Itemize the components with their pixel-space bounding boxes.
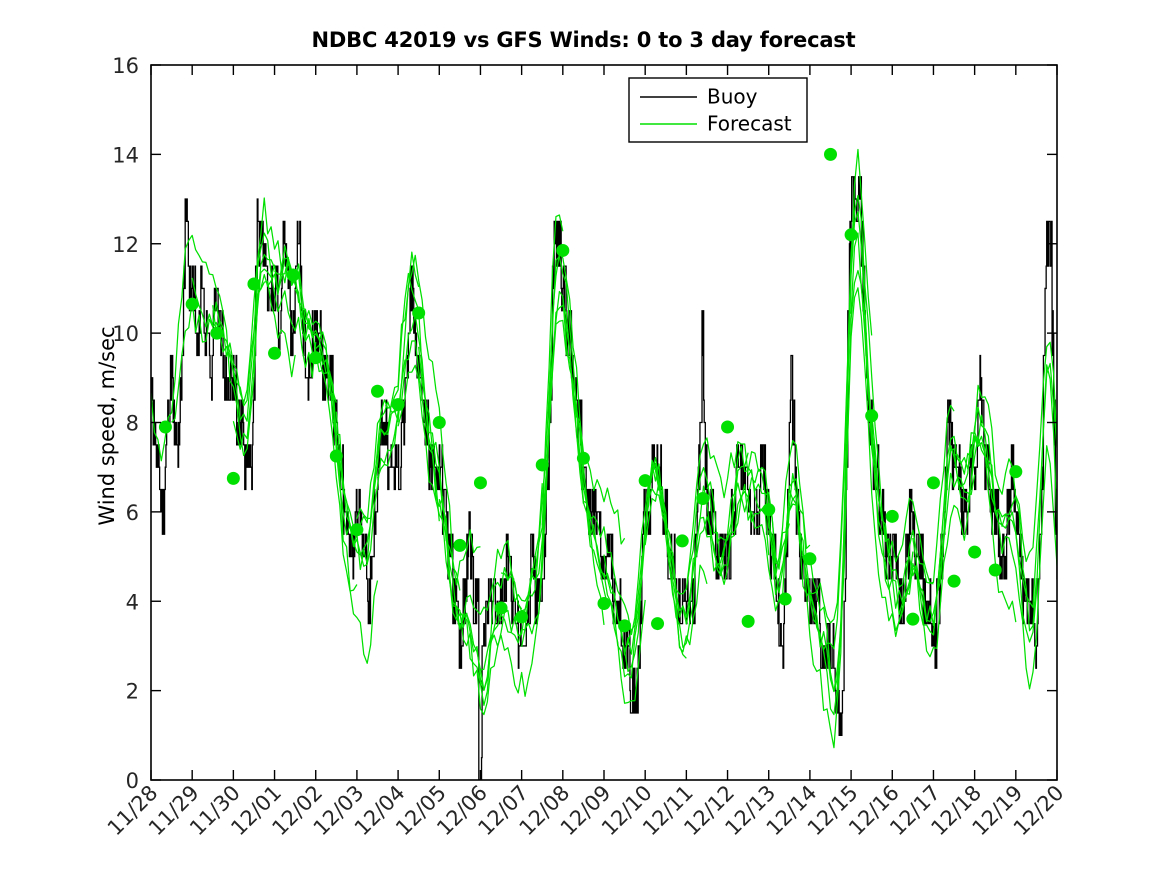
legend-label-forecast: Forecast — [707, 112, 792, 136]
legend: Buoy Forecast — [629, 78, 807, 142]
forecast-marker — [721, 420, 734, 433]
forecast-marker — [287, 269, 300, 282]
forecast-marker — [453, 539, 466, 552]
forecast-marker — [989, 563, 1002, 576]
y-tick-label: 16 — [112, 54, 139, 78]
forecast-marker — [762, 503, 775, 516]
y-tick-label: 14 — [112, 143, 139, 167]
forecast-marker — [577, 452, 590, 465]
forecast-marker — [676, 534, 689, 547]
forecast-marker — [186, 298, 199, 311]
y-tick-label: 2 — [126, 680, 139, 704]
forecast-marker — [639, 474, 652, 487]
forecast-marker — [412, 307, 425, 320]
forecast-marker — [474, 476, 487, 489]
y-tick-label: 4 — [126, 590, 139, 614]
forecast-marker — [845, 228, 858, 241]
forecast-marker — [1009, 465, 1022, 478]
forecast-marker — [350, 523, 363, 536]
forecast-marker — [392, 398, 405, 411]
forecast-marker — [536, 458, 549, 471]
plot-area: 0246810121416 11/2811/2911/3012/0112/021… — [0, 0, 1167, 875]
forecast-marker — [210, 327, 223, 340]
forecast-marker — [515, 610, 528, 623]
forecast-marker — [742, 615, 755, 628]
forecast-marker — [330, 450, 343, 463]
forecast-marker — [865, 409, 878, 422]
forecast-marker — [696, 492, 709, 505]
y-tick-label: 8 — [126, 412, 139, 436]
forecast-marker — [948, 575, 961, 588]
legend-label-buoy: Buoy — [707, 85, 758, 109]
forecast-marker — [779, 593, 792, 606]
forecast-marker — [598, 597, 611, 610]
y-tick-label: 10 — [112, 322, 139, 346]
forecast-marker — [651, 617, 664, 630]
forecast-marker — [927, 476, 940, 489]
forecast-marker — [618, 619, 631, 632]
forecast-marker — [268, 347, 281, 360]
forecast-marker — [227, 472, 240, 485]
forecast-marker — [906, 613, 919, 626]
forecast-marker — [247, 277, 260, 290]
forecast-marker — [309, 351, 322, 364]
y-tick-label: 6 — [126, 501, 139, 525]
forecast-marker — [433, 416, 446, 429]
forecast-marker — [968, 546, 981, 559]
chart-figure: NDBC 42019 vs GFS Winds: 0 to 3 day fore… — [0, 0, 1167, 875]
plot-background — [151, 65, 1057, 780]
forecast-marker — [886, 510, 899, 523]
forecast-marker — [371, 385, 384, 398]
y-tick-label: 12 — [112, 233, 139, 257]
forecast-marker — [824, 148, 837, 161]
forecast-marker — [495, 601, 508, 614]
forecast-marker — [803, 552, 816, 565]
forecast-marker — [556, 244, 569, 257]
